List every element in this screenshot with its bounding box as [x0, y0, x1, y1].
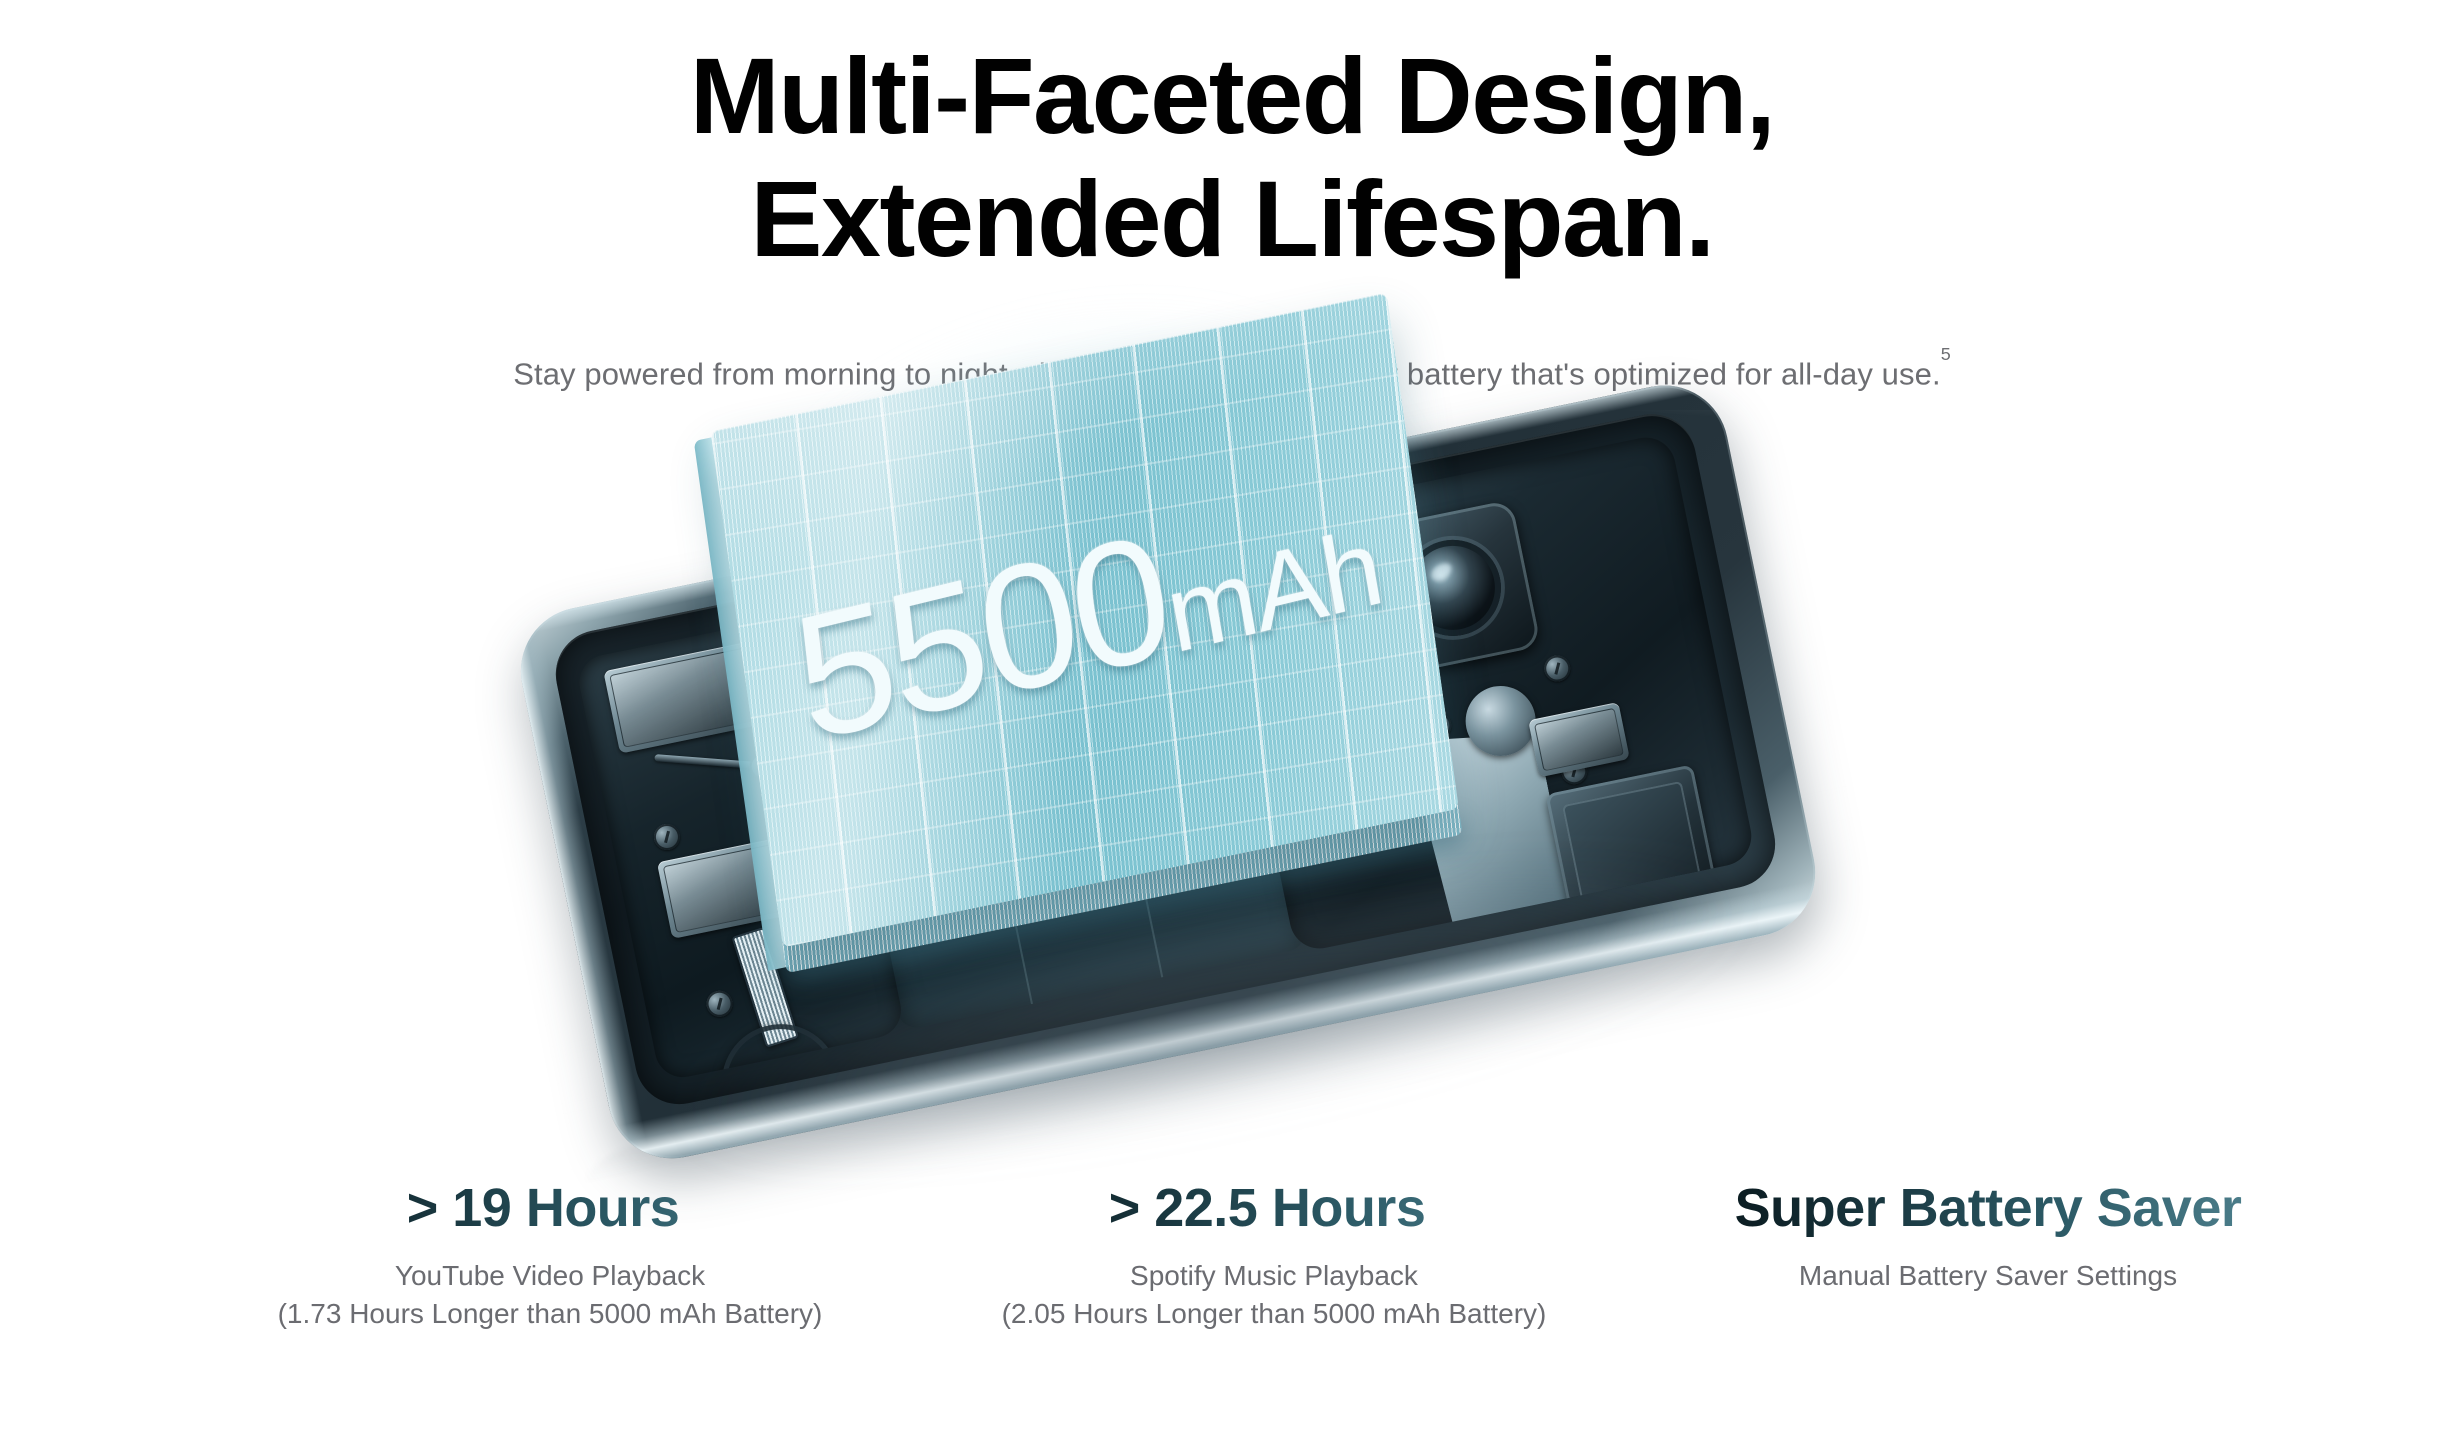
- stat-title-text: > 19 Hours: [407, 1178, 680, 1238]
- hero-product-image: 5500mAh: [0, 470, 2464, 1200]
- headline-line-1: Multi-Faceted Design,: [0, 34, 2464, 157]
- stat-title: Super Battery Saver: [1548, 1168, 2428, 1239]
- flex-connector: [1528, 702, 1630, 777]
- stat-note: (2.05 Hours Longer than 5000 mAh Battery…: [834, 1295, 1714, 1333]
- stat-title-text: > 22.5 Hours: [1109, 1178, 1426, 1238]
- stat-title-text: Super Battery Saver: [1735, 1178, 2242, 1238]
- battery-feature-section: Multi-Faceted Design, Extended Lifespan.…: [0, 0, 2464, 1442]
- screw: [652, 822, 683, 853]
- battery-stats-row: > 19 Hours6 YouTube Video Playback (1.73…: [0, 1168, 2464, 1368]
- subtitle-footnote-marker: 5: [1941, 344, 1951, 364]
- stat-super-battery-saver: Super Battery Saver Manual Battery Saver…: [1548, 1168, 2428, 1295]
- page-title: Multi-Faceted Design, Extended Lifespan.: [0, 34, 2464, 280]
- stat-footnote-marker: 6: [679, 1166, 693, 1194]
- screw: [1542, 653, 1573, 684]
- stat-subtitle: Manual Battery Saver Settings: [1548, 1257, 2428, 1295]
- battery-slab: 5500mAh: [711, 293, 1459, 948]
- stat-footnote-marker: 6: [1425, 1166, 1439, 1194]
